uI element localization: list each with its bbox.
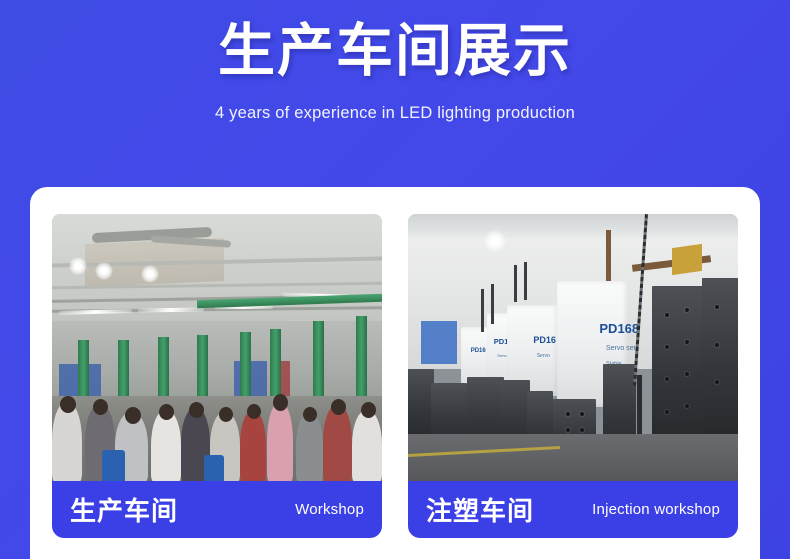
workshop-label-en: Workshop — [295, 501, 364, 518]
workshop-photo — [52, 214, 382, 482]
card-workshop[interactable]: 生产车间 Workshop — [52, 214, 382, 538]
injection-workshop-photo: PD16 PD168 Servo PD16 Servo PD168 Servo … — [408, 214, 738, 482]
injection-workshop-photo-scene: PD16 PD168 Servo PD16 Servo PD168 Servo … — [408, 214, 738, 482]
card-grid: 生产车间 Workshop PD16 PD1 — [52, 214, 738, 538]
workshop-label-bar: 生产车间 Workshop — [52, 481, 382, 538]
injection-workshop-label-bar: 注塑车间 Injection workshop — [408, 481, 738, 538]
content-panel: 生产车间 Workshop PD16 PD1 — [30, 187, 760, 559]
page-title: 生产车间展示 — [0, 22, 790, 82]
page-header: 生产车间展示 4 years of experience in LED ligh… — [0, 0, 790, 123]
card-injection-workshop[interactable]: PD16 PD168 Servo PD16 Servo PD168 Servo … — [408, 214, 738, 538]
workshop-photo-scene — [52, 214, 382, 482]
workshop-label-cn: 生产车间 — [70, 491, 178, 528]
page-subtitle: 4 years of experience in LED lighting pr… — [0, 104, 790, 123]
injection-workshop-label-en: Injection workshop — [592, 501, 720, 518]
injection-workshop-label-cn: 注塑车间 — [426, 491, 534, 528]
